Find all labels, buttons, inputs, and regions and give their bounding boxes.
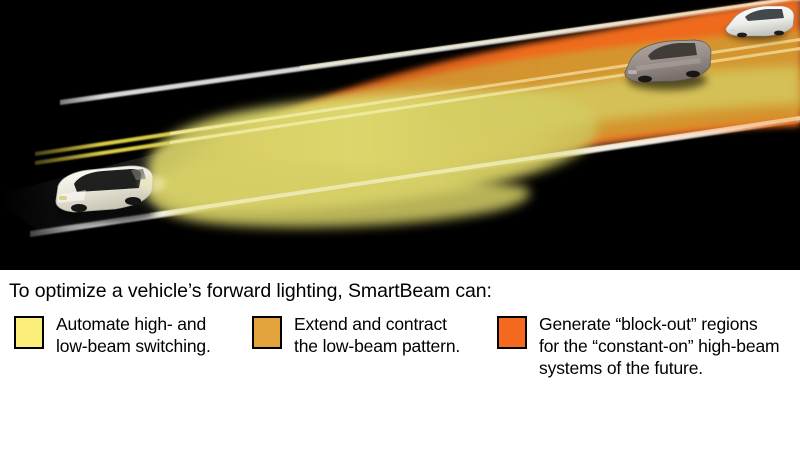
legend-text-orange: Generate “block-out” regions for the “co… [539,313,797,379]
ego-vehicle-wheel-rear [71,204,87,212]
lead-vehicle-wheel-rear [638,76,652,83]
ego-vehicle-taillight [59,196,67,200]
ego-vehicle [56,166,166,224]
legend-line: the low-beam pattern. [294,335,492,357]
legend-text-amber: Extend and contract the low-beam pattern… [294,313,492,357]
legend-item-low-beam-switching: Automate high- and low-beam switching. [14,313,246,357]
legend-line: for the “constant-on” high-beam [539,335,797,357]
legend-swatch-amber [252,316,282,349]
legend-line: Generate “block-out” regions [539,313,797,335]
oncoming-vehicle-wheel-rear [737,33,747,38]
oncoming-vehicle-taillight [730,29,737,32]
legend-text-yellow: Automate high- and low-beam switching. [56,313,246,357]
legend-line: low-beam switching. [56,335,246,357]
caption-headline: To optimize a vehicle’s forward lighting… [9,280,492,303]
legend-swatch-yellow [14,316,44,349]
caption-panel: To optimize a vehicle’s forward lighting… [0,270,800,450]
night-road-scene [0,0,800,270]
lead-vehicle-taillight [628,70,637,74]
legend-line: Extend and contract [294,313,492,335]
ego-vehicle-wheel-front [125,197,141,205]
lead-vehicle-wheel-front [686,71,700,78]
illustration-panel [0,0,800,270]
legend-item-block-out: Generate “block-out” regions for the “co… [497,313,797,379]
legend-line: Automate high- and [56,313,246,335]
legend-line: systems of the future. [539,357,797,379]
legend-swatch-orange [497,316,527,349]
ego-vehicle-headlight-glow [140,176,166,192]
legend-item-extend-contract: Extend and contract the low-beam pattern… [252,313,492,357]
oncoming-vehicle-wheel-front [774,31,784,36]
smartbeam-infographic: To optimize a vehicle’s forward lighting… [0,0,800,450]
